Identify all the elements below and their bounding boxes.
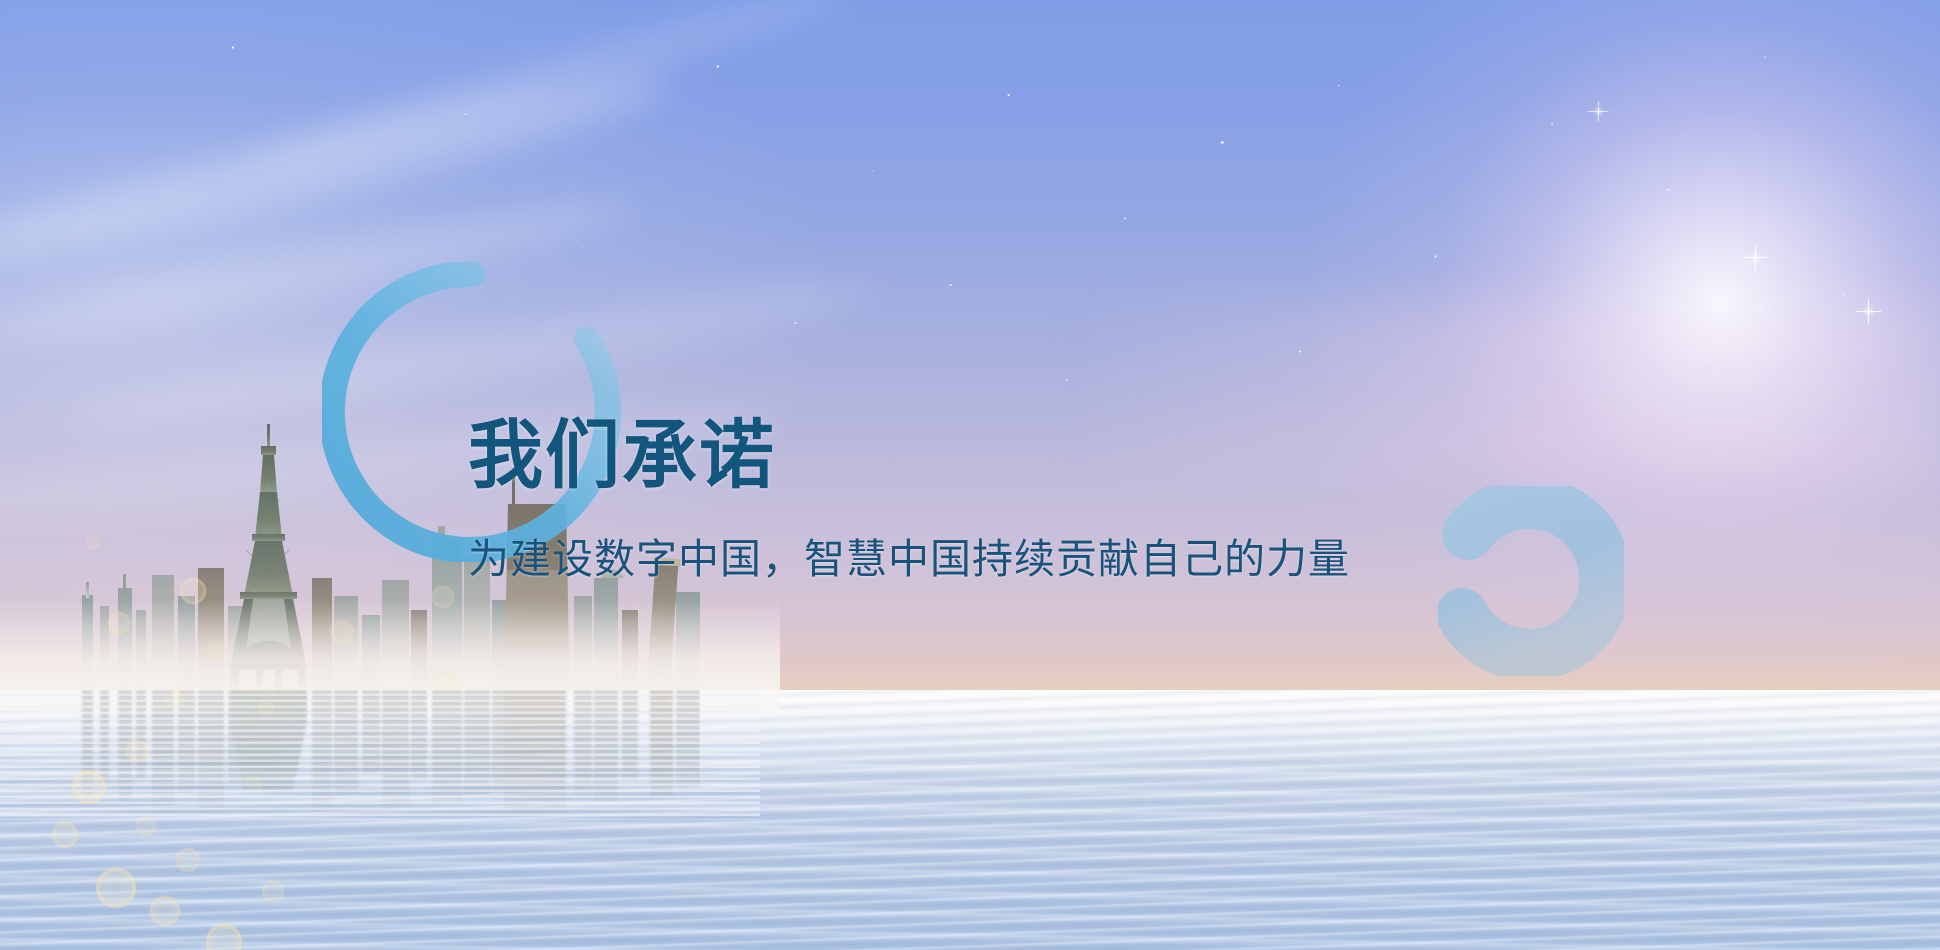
bokeh-orb [72,770,106,804]
reflection-water-distortion [0,690,760,820]
bokeh-orb [330,620,354,644]
bokeh-orb [176,848,200,872]
page-title: 我们承诺 [468,418,1468,493]
star-sparkle-icon [1754,256,1757,259]
bokeh-orb [108,612,130,634]
bokeh-orb [166,690,184,708]
bokeh-orb [52,822,78,848]
bokeh-orb [206,640,226,660]
bokeh-orb [436,672,456,692]
bokeh-orb [136,816,156,836]
bokeh-orb [258,700,274,716]
bokeh-orb [262,880,284,902]
bokeh-orb [246,776,262,792]
hero-banner: 我们承诺 为建设数字中国，智慧中国持续贡献自己的力量 [0,0,1940,950]
banner-text-block: 我们承诺 为建设数字中国，智慧中国持续贡献自己的力量 [468,418,1468,580]
star-sparkle-icon [1597,110,1599,112]
bokeh-orb [96,868,136,908]
bokeh-orb [86,536,100,550]
star-sparkle-icon [1867,310,1870,313]
page-subtitle: 为建设数字中国，智慧中国持续贡献自己的力量 [468,539,1468,580]
bokeh-orb [126,740,148,762]
bokeh-orb [180,578,206,604]
bokeh-orb [150,896,180,926]
bokeh-orb [432,586,454,608]
